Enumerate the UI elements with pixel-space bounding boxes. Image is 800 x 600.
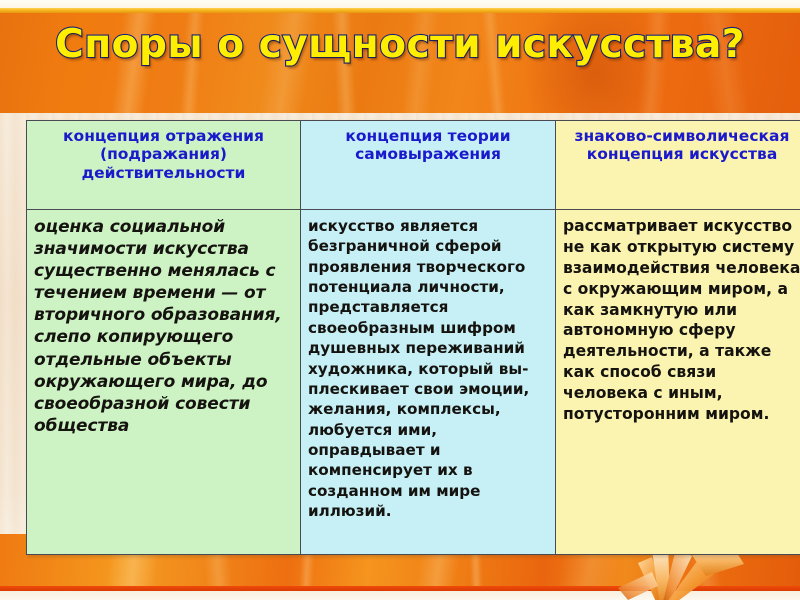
top-gold-rule — [0, 8, 800, 13]
page-title: Споры о сущности искусства? — [0, 22, 800, 67]
table-header-cell-sign-symbolic: знаково-символическая концепция искусств… — [556, 121, 800, 210]
table-header-cell-reflection: концепция отражения (подражания) действи… — [27, 121, 301, 210]
table-header-row-group: концепция отражения (подражания) действи… — [27, 121, 800, 210]
table-header-row: концепция отражения (подражания) действи… — [27, 121, 800, 210]
concepts-table: концепция отражения (подражания) действи… — [26, 120, 800, 555]
table-header-cell-self-expression: концепция теории самовыражения — [301, 121, 556, 210]
table-body: оценка социальной значимости искусства с… — [27, 210, 800, 555]
table-cell-reflection-description: оценка социальной значимости искусства с… — [27, 210, 301, 555]
table-cell-sign-symbolic-description: рассматривает искусство не как открытую … — [556, 210, 800, 555]
top-edge-strip — [0, 0, 800, 8]
table-row: оценка социальной значимости искусства с… — [27, 210, 800, 555]
slide: Споры о сущности искусства? концепция от… — [0, 0, 800, 600]
concepts-table-container: концепция отражения (подражания) действи… — [26, 120, 763, 555]
table-cell-self-expression-description: искусство является безграничной сферой п… — [301, 210, 556, 555]
